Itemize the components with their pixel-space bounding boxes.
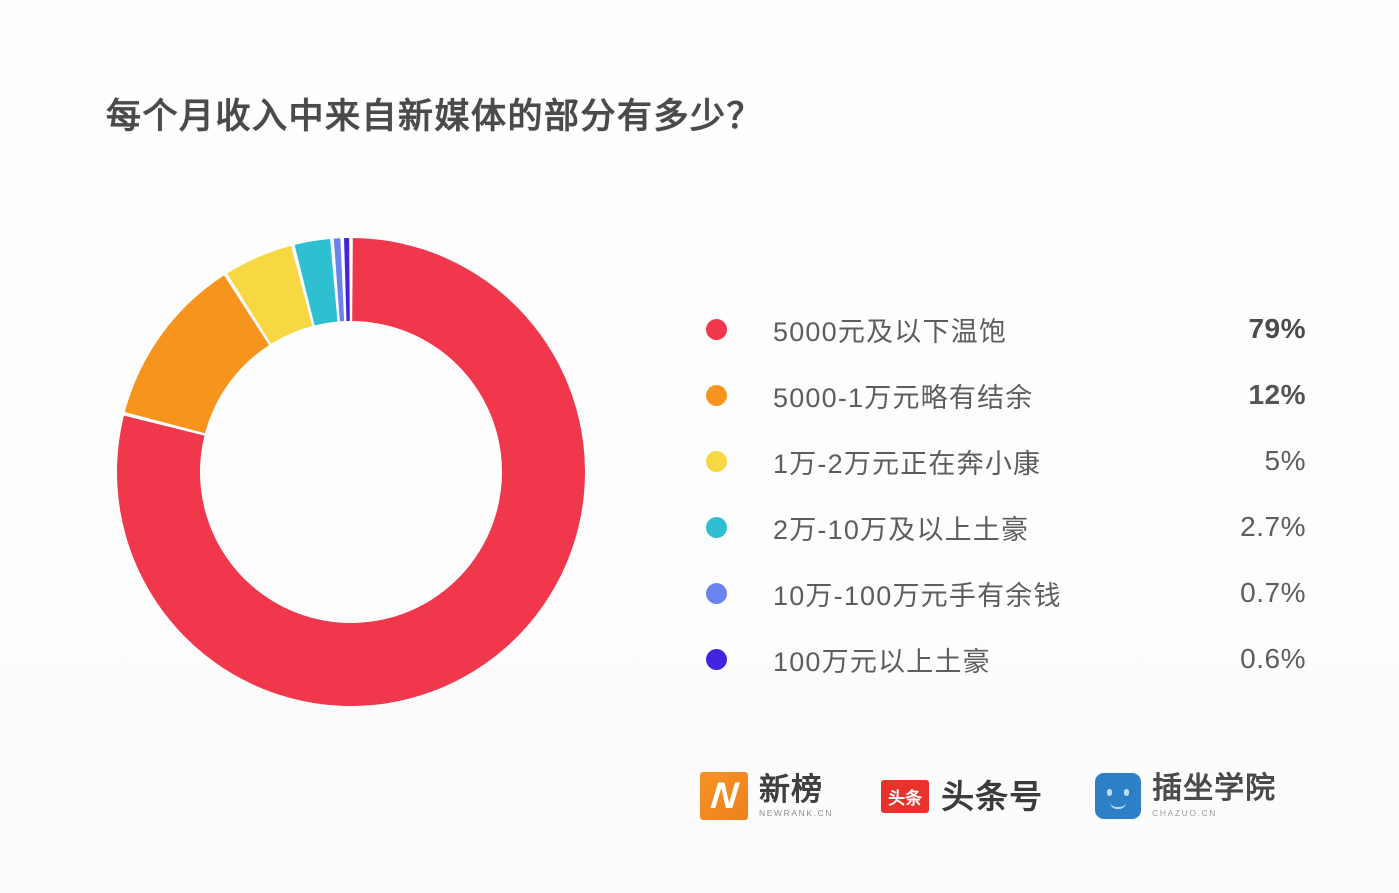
legend-label: 1万-2万元正在奔小康 [773,442,1171,481]
legend-row[interactable]: 100万元以上土豪0.6% [706,626,1306,692]
logo-newrank: N 新榜 NEWRANK.CN [700,772,833,820]
legend-row[interactable]: 5000-1万元略有结余12% [706,362,1306,428]
legend-label: 10万-100万元手有余钱 [773,574,1171,613]
legend-row[interactable]: 5000元及以下温饱79% [706,296,1306,362]
legend-row[interactable]: 1万-2万元正在奔小康5% [706,428,1306,494]
donut-slice-group [117,238,585,706]
legend-swatch-icon [706,319,727,340]
slide-canvas: 每个月收入中来自新媒体的部分有多少？ 5000元及以下温饱79%5000-1万元… [0,0,1399,893]
legend-label: 100万元以上土豪 [773,640,1171,679]
chazuo-eye-right-icon [1124,789,1129,796]
legend-swatch-icon [706,451,727,472]
newrank-mark-icon: N [700,772,748,820]
legend-swatch-icon [706,649,727,670]
donut-chart [117,238,585,706]
legend-swatch-icon [706,517,727,538]
chazuo-text-block: 插坐学院 CHAZUO.CN [1152,774,1276,818]
legend-value: 12% [1171,379,1306,411]
donut-slice[interactable] [344,238,350,321]
donut-chart-svg [117,238,585,706]
toutiao-mark-icon: 头条 [881,780,929,813]
newrank-subtitle: NEWRANK.CN [759,808,833,818]
newrank-text-block: 新榜 NEWRANK.CN [759,774,833,819]
legend-label: 5000元及以下温饱 [773,310,1171,349]
toutiao-name: 头条号 [941,780,1043,813]
chazuo-eye-left-icon [1107,789,1112,796]
legend-value: 0.6% [1171,643,1306,675]
chazuo-subtitle: CHAZUO.CN [1152,808,1276,818]
logo-bar: N 新榜 NEWRANK.CN 头条 头条号 插坐学院 CHAZUO.CN [700,772,1276,820]
chazuo-face-icon [1095,773,1141,819]
legend-value: 2.7% [1171,511,1306,543]
chazuo-name: 插坐学院 [1152,774,1276,805]
legend-label: 2万-10万及以上土豪 [773,508,1171,547]
chazuo-mouth-icon [1110,802,1126,809]
legend-row[interactable]: 10万-100万元手有余钱0.7% [706,560,1306,626]
legend-row[interactable]: 2万-10万及以上土豪2.7% [706,494,1306,560]
logo-toutiao: 头条 头条号 [881,780,1043,813]
legend-value: 0.7% [1171,577,1306,609]
legend-value: 5% [1171,445,1306,477]
legend-label: 5000-1万元略有结余 [773,376,1171,415]
legend-swatch-icon [706,583,727,604]
legend-value: 79% [1171,313,1306,345]
logo-chazuo: 插坐学院 CHAZUO.CN [1095,773,1276,819]
newrank-mark-letter: N [700,772,748,820]
chart-legend: 5000元及以下温饱79%5000-1万元略有结余12%1万-2万元正在奔小康5… [706,296,1306,692]
page-title: 每个月收入中来自新媒体的部分有多少？ [106,88,763,139]
legend-swatch-icon [706,385,727,406]
newrank-name: 新榜 [759,774,833,806]
